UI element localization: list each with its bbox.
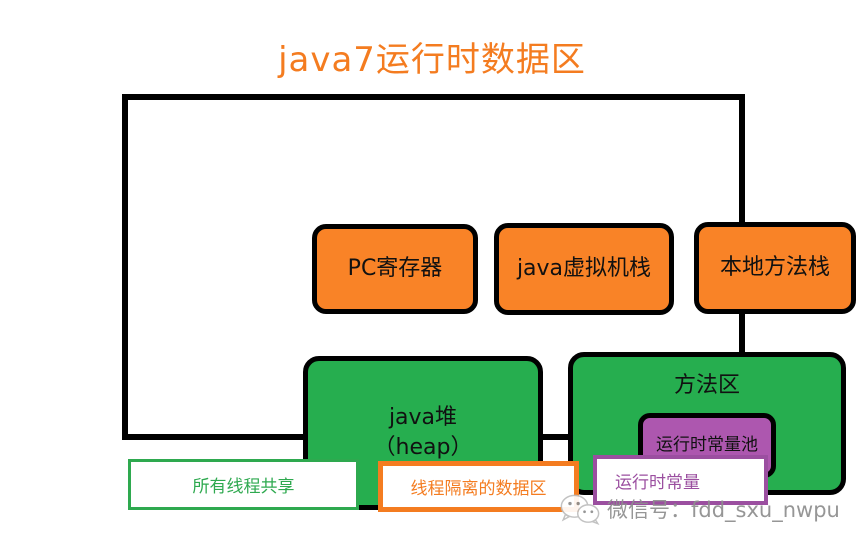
node-label-line1: java堆	[389, 403, 457, 433]
legend-label: 线程隔离的数据区	[411, 474, 547, 499]
watermark-text: 微信号：fdd_sxu_nwpu	[607, 494, 840, 524]
legend-label: 所有线程共享	[193, 472, 295, 497]
page-title: java7运行时数据区	[0, 32, 864, 81]
node-label: PC寄存器	[348, 254, 443, 284]
node-jvm-stack[interactable]: java虚拟机栈	[494, 223, 674, 315]
node-label: 本地方法栈	[720, 253, 830, 283]
watermark: 微信号：fdd_sxu_nwpu	[560, 487, 840, 531]
node-native-method-stack[interactable]: 本地方法栈	[694, 222, 856, 314]
wechat-icon	[560, 493, 600, 525]
legend-thread-isolated-data-area: 线程隔离的数据区	[378, 461, 579, 512]
diagram-canvas: java7运行时数据区 PC寄存器 java虚拟机栈 本地方法栈 java堆 （…	[0, 0, 864, 540]
runtime-data-area-frame: PC寄存器 java虚拟机栈 本地方法栈 java堆 （heap） 方法区 运行…	[122, 94, 745, 440]
legend-all-threads-shared: 所有线程共享	[128, 459, 359, 510]
node-pc-register[interactable]: PC寄存器	[312, 224, 478, 314]
node-label: java虚拟机栈	[517, 254, 651, 284]
node-label: 运行时常量池	[656, 434, 758, 457]
node-label: 方法区	[674, 371, 740, 401]
node-label-line2: （heap）	[374, 433, 473, 463]
